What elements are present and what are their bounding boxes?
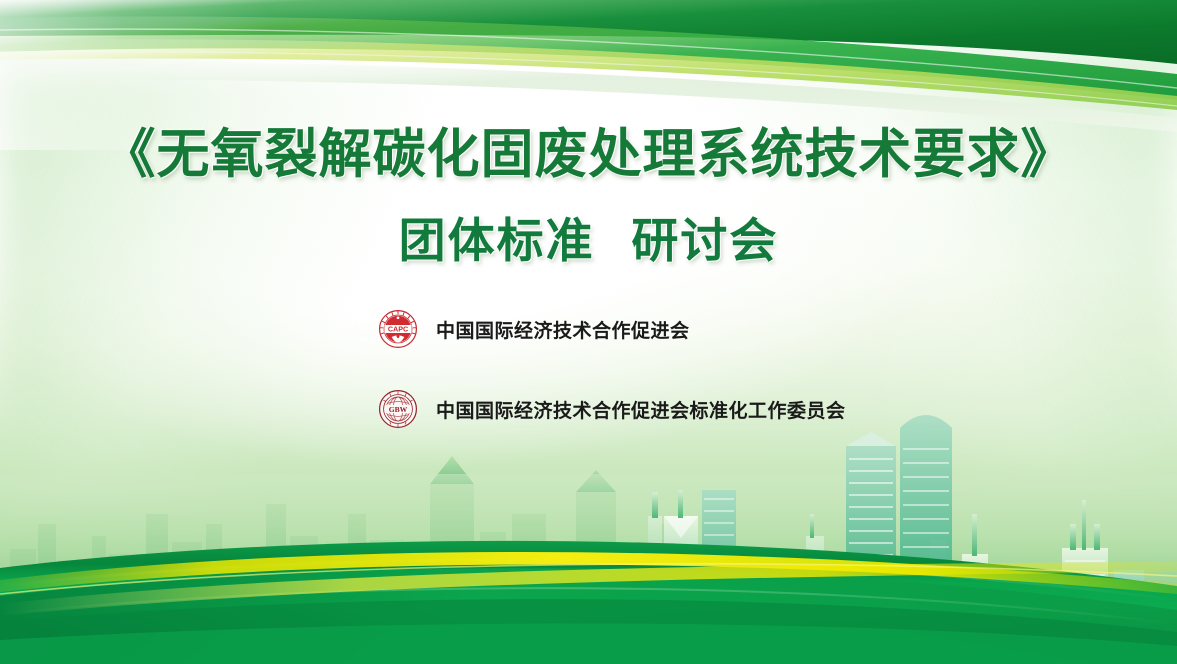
capc-seal-icon: CAPC [378,309,418,349]
organization-row-gbw: GBW 中国国际经济技术合作促进会标准化工作委员会 [378,386,1138,432]
organization-label-gbw: 中国国际经济技术合作促进会标准化工作委员会 [436,396,846,423]
organization-label-capc: 中国国际经济技术合作促进会 [436,316,690,343]
presentation-slide: 《无氧裂解碳化固废处理系统技术要求》 团体标准 研讨会 [0,0,1177,664]
organization-list: CAPC 中国国际经济技术合作促进会 [378,306,1138,432]
gbw-seal-icon: GBW [378,389,418,429]
slide-content: 《无氧裂解碳化固废处理系统技术要求》 团体标准 研讨会 [0,0,1177,664]
page-title: 《无氧裂解碳化固废处理系统技术要求》 [0,112,1177,188]
page-subtitle: 团体标准 研讨会 [0,202,1177,271]
organization-row-capc: CAPC 中国国际经济技术合作促进会 [378,306,1138,352]
gbw-seal-text: GBW [389,405,408,414]
capc-seal-text: CAPC [388,324,408,333]
